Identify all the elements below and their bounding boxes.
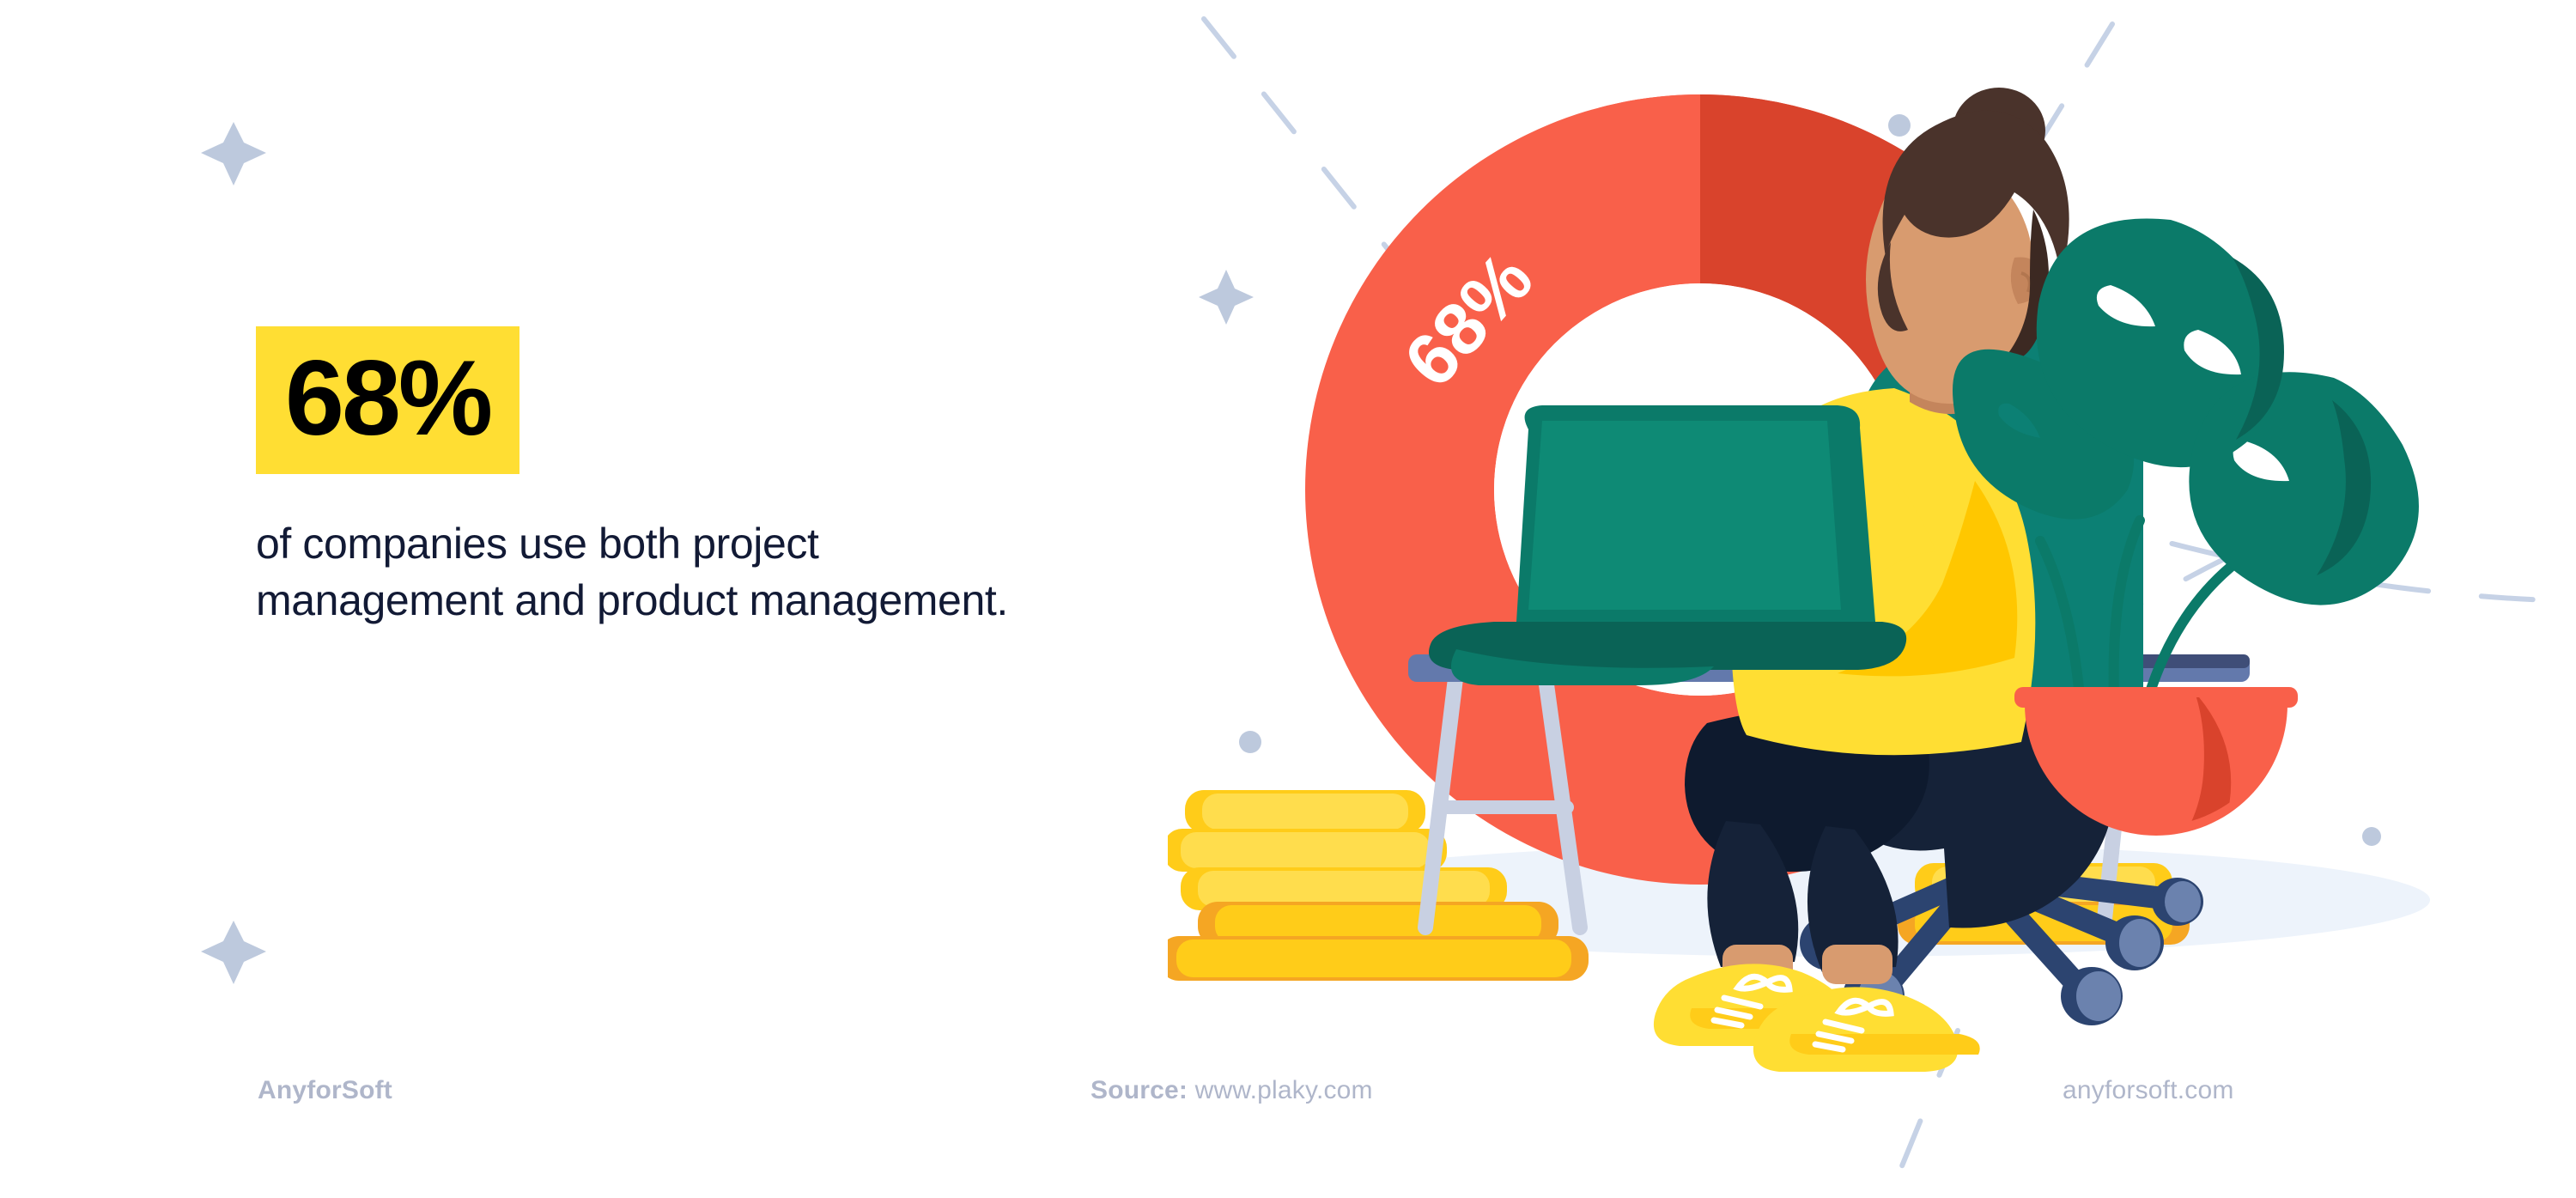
percent-badge: 68% — [256, 326, 519, 474]
laptop-screen-inner — [1528, 421, 1841, 610]
person-ankle-right — [1822, 945, 1893, 984]
footer-brand: AnyforSoft — [258, 1076, 392, 1105]
sparkle-icon — [201, 921, 266, 984]
coin-row — [1168, 936, 1589, 981]
percent-value: 68% — [285, 345, 490, 452]
sparkle-icon — [201, 122, 266, 185]
statement-text: of companies use both project management… — [256, 515, 1029, 629]
coin-row — [1168, 829, 1447, 872]
coin-row — [1185, 790, 1425, 833]
donut-chart-illustration: 68% — [1168, 0, 2576, 1082]
person-shoes — [1654, 964, 1980, 1072]
infographic-canvas: 68% of companies use both project manage… — [0, 0, 2576, 1198]
stat-block: 68% of companies use both project manage… — [256, 326, 1072, 629]
